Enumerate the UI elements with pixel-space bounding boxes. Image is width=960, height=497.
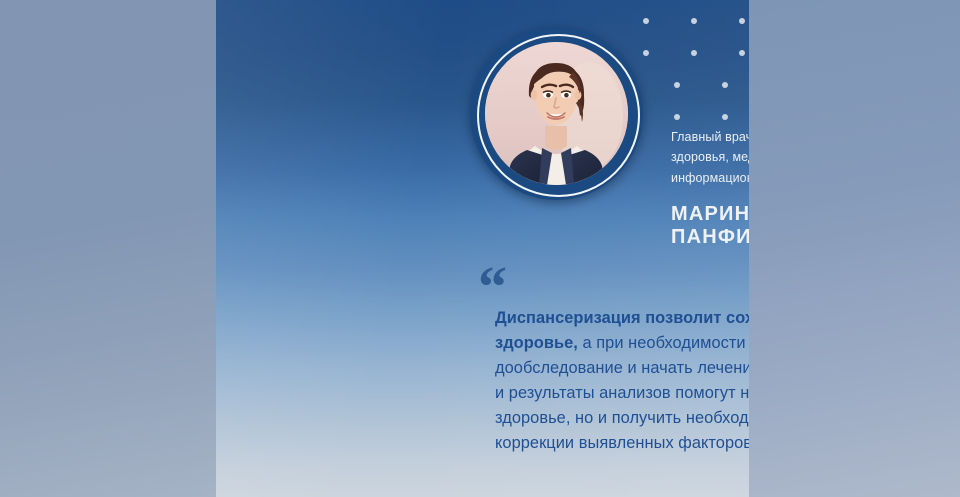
grid-dot bbox=[691, 18, 697, 24]
grid-dot bbox=[722, 114, 728, 120]
role-title: Главный врач ГБУ РО «Центр общественного… bbox=[671, 127, 749, 188]
right-letterbox bbox=[749, 0, 960, 497]
grid-dot bbox=[722, 82, 728, 88]
dot-grid-row-2 bbox=[643, 50, 749, 56]
dot-grid-row-3 bbox=[674, 82, 749, 88]
grid-dot bbox=[674, 114, 680, 120]
grid-dot bbox=[739, 18, 745, 24]
portrait-photo-illustration bbox=[485, 42, 628, 185]
grid-dot bbox=[691, 50, 697, 56]
grid-dot bbox=[643, 18, 649, 24]
avatar-photo bbox=[485, 42, 628, 185]
poster-card: МИНИСТЕРСТВО ЗДРАВООХРАНЕНИЯ РЯЗАНСКОЙ О… bbox=[216, 0, 749, 497]
dot-grid-row-4 bbox=[674, 114, 749, 120]
person-name: МАРИНА ПАНФИЛОВА bbox=[671, 203, 749, 249]
poster-canvas: МИНИСТЕРСТВО ЗДРАВООХРАНЕНИЯ РЯЗАНСКОЙ О… bbox=[0, 0, 960, 497]
quote-text: Диспансеризация позволит сохранить и укр… bbox=[495, 306, 749, 457]
grid-dot bbox=[674, 82, 680, 88]
avatar bbox=[470, 27, 643, 200]
dot-grid-row-1 bbox=[643, 18, 749, 24]
grid-dot bbox=[739, 50, 745, 56]
grid-dot bbox=[643, 50, 649, 56]
left-letterbox bbox=[0, 0, 216, 497]
